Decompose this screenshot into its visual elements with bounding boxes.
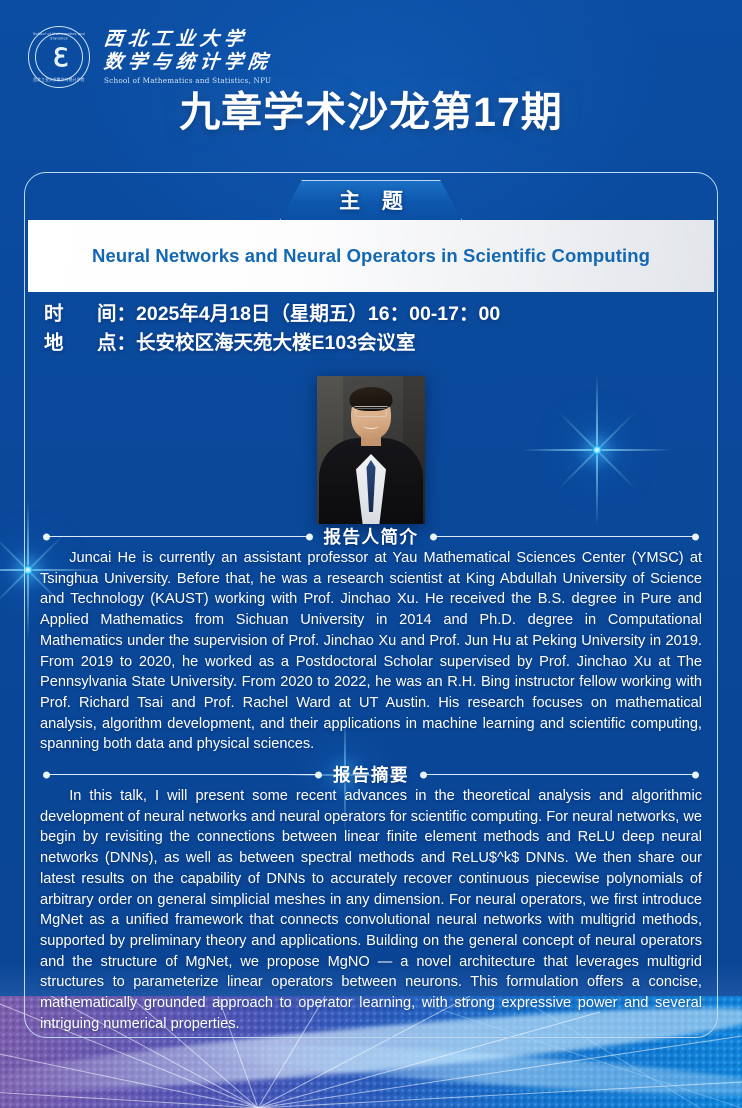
speaker-bio-text: Juncai He is currently an assistant prof… [40, 548, 702, 755]
flare-core [592, 445, 602, 455]
speaker-section-heading: 报告人简介 [324, 524, 419, 549]
divider-left [44, 774, 321, 776]
topic-tab-badge: 主 题 [280, 180, 462, 220]
topic-tab-label: 主 题 [280, 180, 462, 220]
page-title: 九章学术沙龙第17期 [179, 92, 563, 133]
glasses-icon [353, 406, 389, 415]
speaker-smile [364, 423, 379, 429]
poster-header: School of Mathematics and Statistics ℇ 西… [0, 0, 742, 96]
flare-ray-vertical [596, 375, 598, 525]
event-meta: 时 间： 2025年4月18日（星期五）16：00-17：00 地 点： 长安校… [44, 300, 500, 359]
seal-arc-bottom-text: 西北工业大学数学与统计学院 [28, 78, 90, 84]
flare-core [23, 565, 33, 575]
event-time-label: 时 间： [44, 300, 136, 329]
divider-right [431, 536, 699, 538]
speaker-photo [317, 376, 425, 524]
university-name-cn: 西北工业大学 [103, 29, 273, 50]
divider-right [421, 774, 698, 776]
school-name-cn: 数学与统计学院 [103, 52, 273, 73]
event-time-value: 2025年4月18日（星期五）16：00-17：00 [136, 300, 500, 329]
flare-ray-diagonal-1 [558, 411, 635, 488]
event-place-label-a: 地 [44, 329, 64, 358]
event-time-label-b: 间： [97, 300, 136, 329]
flare-ray-vertical [27, 500, 29, 640]
event-place-label-b: 点： [97, 329, 136, 358]
event-place-row: 地 点： 长安校区海天苑大楼E103会议室 [44, 329, 500, 358]
abstract-text: In this talk, I will present some recent… [40, 786, 702, 1035]
star-flare-icon-right [522, 375, 672, 525]
topic-heading: Neural Networks and Neural Operators in … [92, 245, 650, 267]
abstract-section-heading: 报告摘要 [333, 762, 409, 787]
event-time-label-a: 时 [44, 300, 64, 329]
university-seal-icon: School of Mathematics and Statistics ℇ 西… [28, 26, 90, 88]
event-place-value: 长安校区海天苑大楼E103会议室 [136, 329, 416, 358]
school-brand: 西北工业大学 数学与统计学院 School of Mathematics and… [104, 29, 272, 85]
speaker-section-header: 报告人简介 [44, 524, 698, 549]
abstract-section-header: 报告摘要 [44, 762, 698, 787]
school-name-en: School of Mathematics and Statistics, NP… [104, 76, 272, 85]
flare-ray-horizontal [522, 449, 672, 451]
event-place-label: 地 点： [44, 329, 136, 358]
main-title-row: 九章学术沙龙第17期 [0, 92, 742, 133]
flare-ray-diagonal-2 [558, 411, 635, 488]
topic-title-band: Neural Networks and Neural Operators in … [28, 220, 714, 292]
event-time-row: 时 间： 2025年4月18日（星期五）16：00-17：00 [44, 300, 500, 329]
divider-left [44, 536, 312, 538]
